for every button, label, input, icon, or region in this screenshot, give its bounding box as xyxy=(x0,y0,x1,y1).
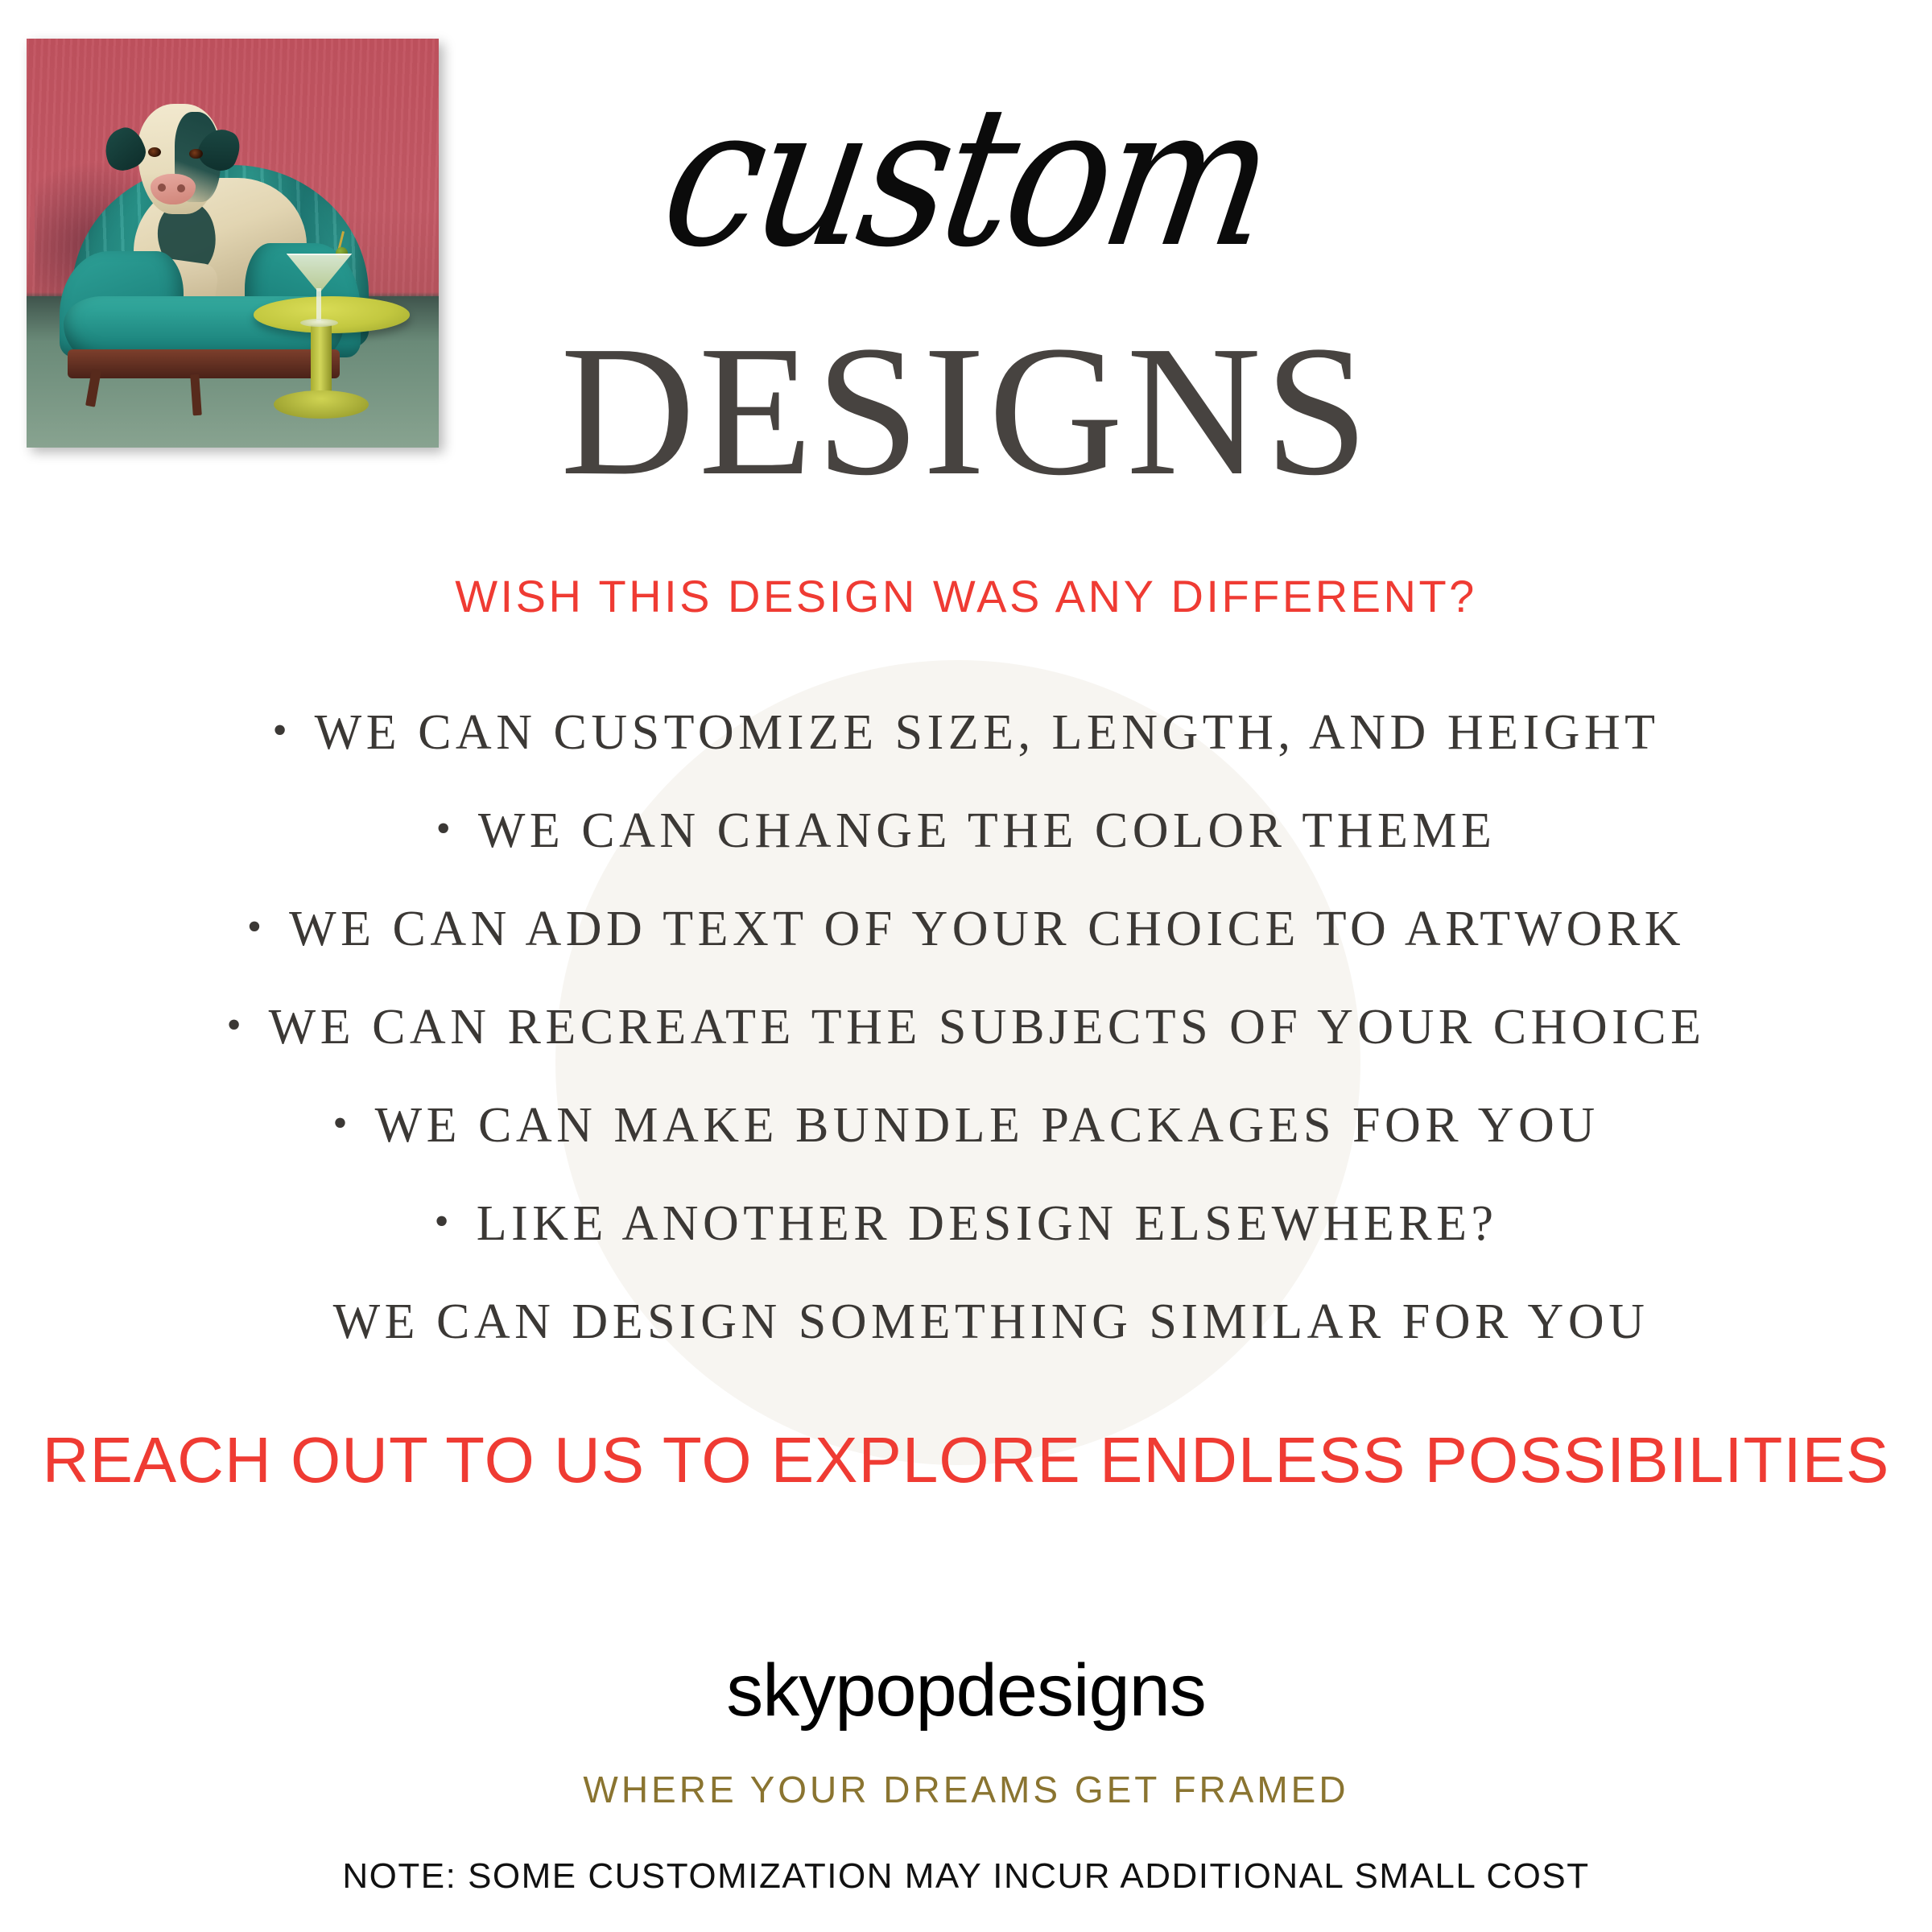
call-to-action-text[interactable]: REACH OUT TO US TO EXPLORE ENDLESS POSSI… xyxy=(0,1423,1932,1497)
subtitle-question: WISH THIS DESIGN WAS ANY DIFFERENT? xyxy=(0,570,1932,622)
feature-list: • WE CAN CUSTOMIZE SIZE, LENGTH, AND HEI… xyxy=(0,704,1932,1389)
bullet-icon: • xyxy=(332,1103,347,1145)
list-item-label: WE CAN CUSTOMIZE SIZE, LENGTH, AND HEIGH… xyxy=(315,704,1660,762)
listing-graphic-canvas: custom DESIGNS WISH THIS DESIGN WAS ANY … xyxy=(0,0,1932,1932)
bullet-icon: • xyxy=(247,906,262,948)
list-item: • WE CAN MAKE BUNDLE PACKAGES FOR YOU xyxy=(0,1097,1932,1195)
brand-logo-wordmark: skypopdesigns xyxy=(0,1649,1932,1733)
list-item: • WE CAN CUSTOMIZE SIZE, LENGTH, AND HEI… xyxy=(0,704,1932,803)
list-item-label: WE CAN MAKE BUNDLE PACKAGES FOR YOU xyxy=(375,1097,1600,1154)
list-item: • WE CAN CHANGE THE COLOR THEME xyxy=(0,803,1932,901)
bullet-icon: • xyxy=(226,1005,241,1046)
martini-glass-stem xyxy=(316,288,321,321)
bullet-icon: • xyxy=(436,808,451,850)
brand-tagline: WHERE YOUR DREAMS GET FRAMED xyxy=(0,1768,1932,1811)
list-item-label: WE CAN ADD TEXT OF YOUR CHOICE TO ARTWOR… xyxy=(289,901,1685,958)
page-title: DESIGNS xyxy=(0,318,1932,505)
list-item-label: WE CAN CHANGE THE COLOR THEME xyxy=(478,803,1496,860)
list-item: • LIKE ANOTHER DESIGN ELSEWHERE? xyxy=(0,1195,1932,1294)
script-headline: custom xyxy=(0,80,1932,274)
list-item-continuation: WE CAN DESIGN SOMETHING SIMILAR FOR YOU xyxy=(0,1294,1932,1389)
list-item-label: LIKE ANOTHER DESIGN ELSEWHERE? xyxy=(477,1195,1498,1253)
list-item: • WE CAN ADD TEXT OF YOUR CHOICE TO ARTW… xyxy=(0,901,1932,999)
disclaimer-note: NOTE: SOME CUSTOMIZATION MAY INCUR ADDIT… xyxy=(0,1856,1932,1897)
bullet-icon: • xyxy=(272,710,287,752)
bullet-icon: • xyxy=(435,1201,449,1243)
list-item-label: WE CAN RECREATE THE SUBJECTS OF YOUR CHO… xyxy=(269,999,1706,1056)
list-item: • WE CAN RECREATE THE SUBJECTS OF YOUR C… xyxy=(0,999,1932,1097)
list-item-label: WE CAN DESIGN SOMETHING SIMILAR FOR YOU xyxy=(333,1294,1649,1351)
